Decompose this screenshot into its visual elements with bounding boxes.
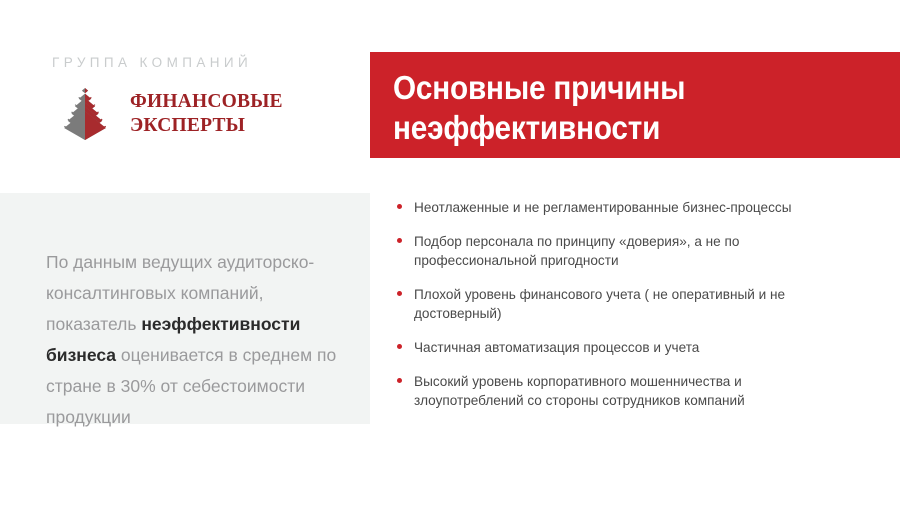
title-banner: Основные причины неэффективности: [370, 52, 900, 158]
brand-kicker: ГРУППА КОМПАНИЙ: [52, 56, 352, 70]
bullet-dot-icon: [397, 238, 402, 243]
bullet-dot-icon: [397, 204, 402, 209]
list-item: Подбор персонала по принципу «доверия», …: [393, 232, 813, 270]
list-item-label: Высокий уровень корпоративного мошенниче…: [414, 374, 745, 408]
list-item-label: Частичная автоматизация процессов и учет…: [414, 340, 699, 355]
info-panel: По данным ведущих аудиторско-консалтинго…: [0, 193, 370, 424]
list-item: Частичная автоматизация процессов и учет…: [393, 338, 813, 357]
bullet-dot-icon: [397, 344, 402, 349]
stepped-pyramid-icon: [52, 88, 118, 140]
page-title-line1: Основные причины: [393, 69, 685, 106]
brand-name-line2: ЭКСПЕРТЫ: [130, 114, 283, 138]
list-item-label: Плохой уровень финансового учета ( не оп…: [414, 287, 785, 321]
page-title-line2: неэффективности: [393, 108, 831, 148]
list-item-label: Подбор персонала по принципу «доверия», …: [414, 234, 739, 268]
info-panel-text: По данным ведущих аудиторско-консалтинго…: [46, 247, 340, 433]
reasons-bullet-list: Неотлаженные и не регламентированные биз…: [393, 198, 813, 410]
list-item: Неотлаженные и не регламентированные биз…: [393, 198, 813, 217]
list-item-label: Неотлаженные и не регламентированные биз…: [414, 200, 791, 215]
bullet-dot-icon: [397, 291, 402, 296]
list-item: Высокий уровень корпоративного мошенниче…: [393, 372, 813, 410]
page-title: Основные причины неэффективности: [393, 68, 831, 149]
brand-name: ФИНАНСОВЫЕ ЭКСПЕРТЫ: [130, 90, 283, 138]
brand-name-line1: ФИНАНСОВЫЕ: [130, 91, 283, 112]
list-item: Плохой уровень финансового учета ( не оп…: [393, 285, 813, 323]
brand-logo-block: ГРУППА КОМПАНИЙ: [52, 56, 352, 140]
bullet-dot-icon: [397, 378, 402, 383]
slide: ГРУППА КОМПАНИЙ: [0, 0, 900, 507]
brand-logo-row: ФИНАНСОВЫЕ ЭКСПЕРТЫ: [52, 88, 352, 140]
